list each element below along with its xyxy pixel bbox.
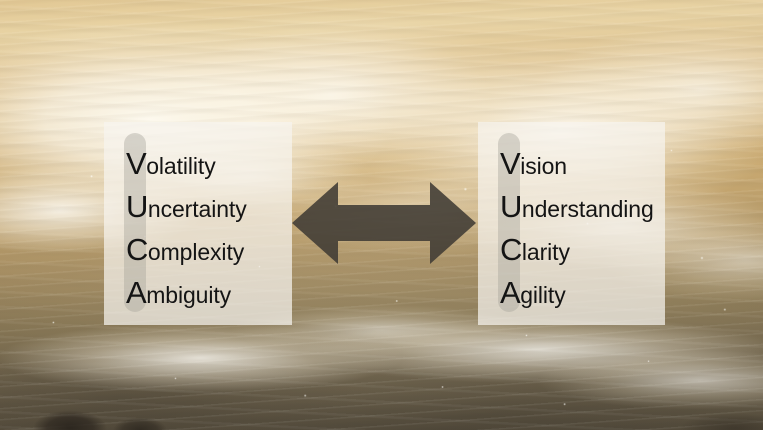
list-item-text: nderstanding [522, 188, 654, 231]
list-item: V ision [500, 142, 654, 185]
list-item-initial: C [126, 228, 148, 271]
vuca-response-list: V ision U nderstanding C larity A gility [500, 142, 654, 314]
list-item-initial: V [126, 142, 146, 185]
list-item-text: mbiguity [146, 274, 231, 317]
list-item: V olatility [126, 142, 247, 185]
list-item: U nderstanding [500, 185, 654, 228]
list-item: A mbiguity [126, 271, 247, 314]
list-item-text: larity [522, 231, 570, 274]
list-item: U ncertainty [126, 185, 247, 228]
list-item-initial: C [500, 228, 522, 271]
list-item-initial: A [500, 271, 520, 314]
list-item-initial: U [126, 185, 148, 228]
slide-canvas: V olatility U ncertainty C omplexity A m… [0, 0, 763, 430]
list-item-initial: A [126, 271, 146, 314]
list-item-text: omplexity [148, 231, 244, 274]
list-item-initial: U [500, 185, 522, 228]
list-item-initial: V [500, 142, 520, 185]
double-headed-arrow-icon [292, 179, 476, 267]
vuca-problem-list: V olatility U ncertainty C omplexity A m… [126, 142, 247, 314]
list-item: A gility [500, 271, 654, 314]
list-item-text: olatility [146, 145, 215, 188]
list-item: C omplexity [126, 228, 247, 271]
list-item-text: ncertainty [148, 188, 247, 231]
list-item: C larity [500, 228, 654, 271]
double-headed-arrow-shape [292, 182, 476, 264]
list-item-text: gility [520, 274, 565, 317]
list-item-text: ision [520, 145, 567, 188]
